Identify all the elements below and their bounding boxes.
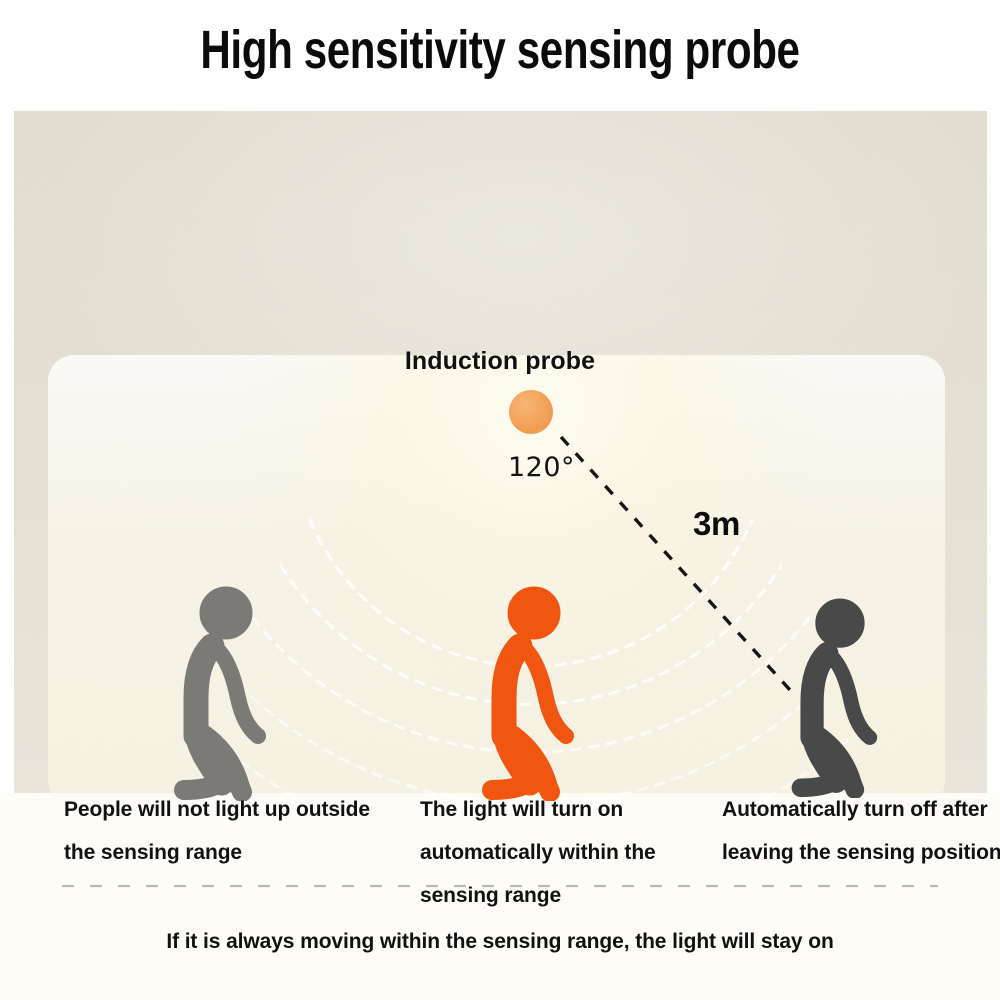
sensing-angle-label: 120°	[508, 452, 575, 483]
induction-probe-label: Induction probe	[0, 347, 1000, 376]
caption-footer: If it is always moving within the sensin…	[0, 930, 1000, 954]
sensing-distance-label: 3m	[693, 505, 740, 543]
person-inside-range-icon	[468, 586, 628, 801]
page-title: High sensitivity sensing probe	[110, 20, 890, 80]
caption-inside-range: The light will turn on automatically wit…	[420, 788, 720, 917]
person-leaving-range-icon	[778, 598, 928, 798]
caption-leaving-range: Automatically turn off after leaving the…	[722, 788, 1000, 874]
person-outside-range-icon	[160, 586, 320, 801]
caption-outside-range: People will not light up outside the sen…	[64, 788, 394, 874]
induction-probe-dot	[509, 390, 553, 434]
